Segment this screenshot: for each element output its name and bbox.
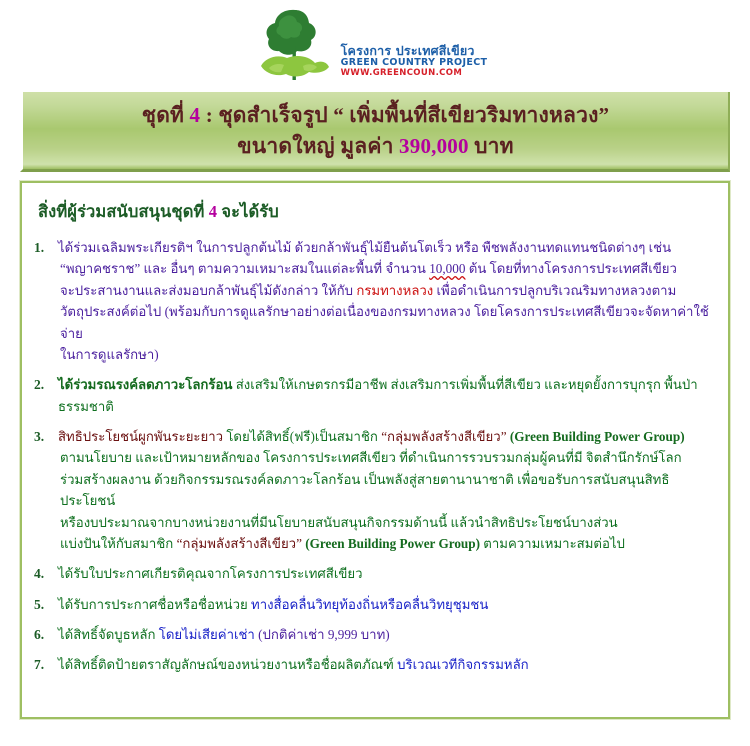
item3-group-name: “กลุ่มพลังสร้างสีเขียว”	[381, 429, 506, 444]
banner-colon: :	[206, 103, 213, 127]
item1-line2-b: ต้น โดยที่ทางโครงการประเทศสีเขียว	[469, 261, 677, 276]
list-item-number: 5.	[34, 594, 44, 616]
item3-line1-b: โดยได้สิทธิ์(ฟรี)เป็นสมาชิก	[226, 429, 378, 444]
banner-title: ชุดสำเร็จรูป “ เพิ่มพื้นที่สีเขียวริมทาง…	[218, 103, 609, 127]
logo-thai-name: โครงการ ประเทศสีเขียว	[341, 44, 488, 57]
item1-line5: ในการดูแลรักษา)	[58, 344, 712, 365]
item6-part-b: โดยไม่เสียค่าเช่า	[159, 627, 255, 642]
banner-set-number: 4	[190, 103, 201, 127]
list-item-body: ได้ร่วมเฉลิมพระเกียรติฯ ในการปลูกต้นไม้ …	[58, 237, 712, 365]
item1-line4: วัตถุประสงค์ต่อไป (พร้อมกับการดูแลรักษาอ…	[58, 301, 712, 344]
item7-part-a: ได้สิทธิ์ติดป้ายตราสัญลักษณ์ของหน่วยงานห…	[58, 657, 394, 672]
item5-part-a: ได้รับการประกาศชื่อหรือชื่อหน่วย	[58, 597, 248, 612]
list-item-body: สิทธิประโยชน์ผูกพันระยะยาว โดยได้สิทธิ์(…	[58, 426, 712, 554]
list-item-number: 6.	[34, 624, 44, 646]
item1-line3-a: จะประสานงานและส่งมอบกล้าพันธุ์ไม้ดังกล่า…	[60, 283, 353, 298]
item3-line3: ร่วมสร้างผลงาน ด้วยกิจกรรมรณรงค์ลดภาวะโล…	[58, 469, 712, 512]
list-item-number: 3.	[34, 426, 44, 448]
list-item-number: 2.	[34, 374, 44, 396]
item4-text: ได้รับใบประกาศเกียรติคุณจากโครงการประเทศ…	[58, 563, 712, 584]
logo-english-name: GREEN COUNTRY PROJECT	[341, 58, 488, 68]
item3-line2: ตามนโยบาย และเป้าหมายหลักของ โครงการประเ…	[58, 447, 712, 468]
benefits-list: 1. ได้ร่วมเฉลิมพระเกียรติฯ ในการปลูกต้นไ…	[32, 237, 712, 676]
list-item: 4. ได้รับใบประกาศเกียรติคุณจากโครงการประ…	[32, 563, 712, 584]
list-item: 5. ได้รับการประกาศชื่อหรือชื่อหน่วย ทางส…	[32, 594, 712, 615]
logo-website-url: WWW.GREENCOUN.COM	[341, 69, 488, 78]
logo-header: โครงการ ประเทศสีเขียว GREEN COUNTRY PROJ…	[0, 0, 750, 92]
item1-line3: จะประสานงานและส่งมอบกล้าพันธุ์ไม้ดังกล่า…	[58, 280, 712, 301]
item2-part-a: ได้ร่วมรณรงค์ลดภาวะโลกร้อน	[58, 377, 232, 392]
item6-normal-fee: (ปกติค่าเช่า 9,999 บาท)	[258, 627, 390, 642]
list-item-number: 4.	[34, 563, 44, 585]
list-item-body: ได้สิทธิ์ติดป้ายตราสัญลักษณ์ของหน่วยงานห…	[58, 654, 712, 675]
item3-line5-b: ตามความเหมาะสมต่อไป	[483, 536, 625, 551]
banner-price-line: ขนาดใหญ่ มูลค่า 390,000 บาท	[237, 133, 513, 159]
heading-suffix: จะได้รับ	[221, 202, 278, 221]
title-banner: ชุดที่ 4 : ชุดสำเร็จรูป “ เพิ่มพื้นที่สี…	[20, 92, 730, 172]
item1-agency: กรมทางหลวง	[356, 283, 433, 298]
benefits-panel: สิ่งที่ผู้ร่วมสนับสนุนชุดที่ 4 จะได้รับ …	[20, 181, 730, 719]
item6-part-a: ได้สิทธิ์จัดบูธหลัก	[58, 627, 155, 642]
banner-size-label: ขนาดใหญ่ มูลค่า	[237, 134, 393, 158]
list-item-number: 1.	[34, 237, 44, 259]
heading-prefix: สิ่งที่ผู้ร่วมสนับสนุนชุดที่	[38, 202, 205, 221]
tree-logo-icon	[251, 6, 337, 86]
list-item-body: ได้รับการประกาศชื่อหรือชื่อหน่วย ทางสื่อ…	[58, 594, 712, 615]
banner-currency: บาท	[474, 134, 514, 158]
item3-group-name-en-2: (Green Building Power Group)	[305, 536, 480, 551]
item3-group-name-2: “กลุ่มพลังสร้างสีเขียว”	[177, 536, 302, 551]
logo-text-block: โครงการ ประเทศสีเขียว GREEN COUNTRY PROJ…	[341, 44, 488, 86]
list-item: 3. สิทธิประโยชน์ผูกพันระยะยาว โดยได้สิทธ…	[32, 426, 712, 554]
logo-wrap: โครงการ ประเทศสีเขียว GREEN COUNTRY PROJ…	[251, 6, 488, 86]
item1-line1-a: ได้ร่วมเฉลิมพระเกียรติฯ	[58, 240, 193, 255]
item3-line5-a: แบ่งปันให้กับสมาชิก	[60, 536, 173, 551]
item3-line1-a: สิทธิประโยชน์ผูกพันระยะยาว	[58, 429, 223, 444]
list-item: 7. ได้สิทธิ์ติดป้ายตราสัญลักษณ์ของหน่วยง…	[32, 654, 712, 675]
list-item-body: ได้ร่วมรณรงค์ลดภาวะโลกร้อน ส่งเสริมให้เก…	[58, 374, 712, 417]
item3-line4: หรืองบประมาณจากบางหน่วยงานที่มีนโยบายสนั…	[58, 512, 712, 533]
list-item-number: 7.	[34, 654, 44, 676]
item7-part-b: บริเวณเวทีกิจกรรมหลัก	[397, 657, 529, 672]
list-item: 1. ได้ร่วมเฉลิมพระเกียรติฯ ในการปลูกต้นไ…	[32, 237, 712, 365]
item5-part-b: ทางสื่อคลื่นวิทยุท้องถิ่นหรือคลื่นวิทยุช…	[251, 597, 488, 612]
list-item-body: ได้สิทธิ์จัดบูธหลัก โดยไม่เสียค่าเช่า (ป…	[58, 624, 712, 645]
heading-set-number: 4	[209, 202, 217, 221]
item3-line5: แบ่งปันให้กับสมาชิก “กลุ่มพลังสร้างสีเขี…	[58, 533, 712, 554]
item3-group-name-en: (Green Building Power Group)	[510, 429, 685, 444]
item1-line2-a: “พญาคชราช” และ อื่นๆ ตามความเหมาะสมในแต่…	[60, 261, 426, 276]
item1-quantity: 10,000	[429, 261, 465, 276]
item1-line1-b: ในการปลูกต้นไม้ ด้วยกล้าพันธุ์ไม้ยืนต้นโ…	[196, 240, 671, 255]
list-item: 6. ได้สิทธิ์จัดบูธหลัก โดยไม่เสียค่าเช่า…	[32, 624, 712, 645]
banner-title-line: ชุดที่ 4 : ชุดสำเร็จรูป “ เพิ่มพื้นที่สี…	[142, 102, 610, 128]
banner-price: 390,000	[399, 134, 469, 158]
banner-set-prefix: ชุดที่	[142, 103, 184, 127]
panel-heading: สิ่งที่ผู้ร่วมสนับสนุนชุดที่ 4 จะได้รับ	[38, 199, 712, 225]
list-item: 2. ได้ร่วมรณรงค์ลดภาวะโลกร้อน ส่งเสริมให…	[32, 374, 712, 417]
item1-line3-b: เพื่อดำเนินการปลูกบริเวณริมทางหลวงตาม	[437, 283, 677, 298]
item1-line2: “พญาคชราช” และ อื่นๆ ตามความเหมาะสมในแต่…	[58, 258, 712, 279]
